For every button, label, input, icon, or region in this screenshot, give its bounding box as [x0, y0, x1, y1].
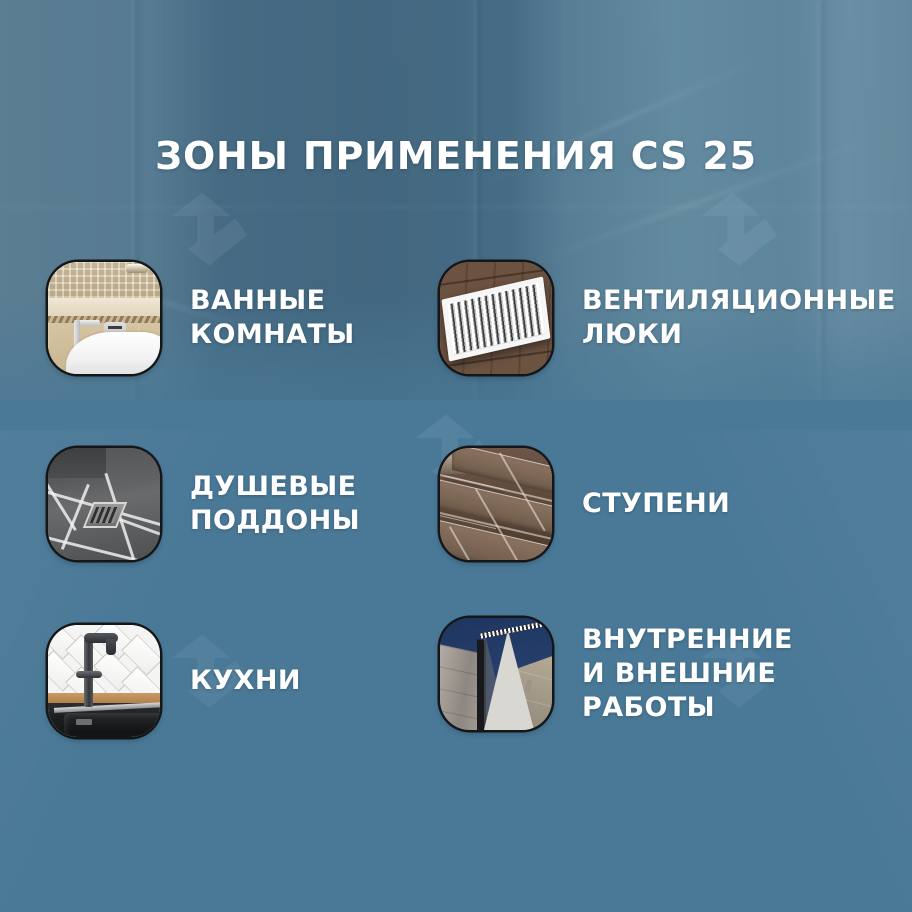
application-zone-label: ВНУТРЕННИЕ И ВНЕШНИЕ РАБОТЫ [582, 623, 793, 725]
bathroom-photo [48, 262, 160, 374]
application-zone-item: СТУПЕНИ [440, 448, 730, 560]
shower-tray-photo [48, 448, 160, 560]
interior-exterior-works-photo [440, 618, 552, 730]
application-zone-item: КУХНИ [48, 625, 301, 737]
kitchen-photo [48, 625, 160, 737]
application-zone-label: ДУШЕВЫЕ ПОДДОНЫ [190, 470, 360, 538]
application-zone-item: ВЕНТИЛЯЦИОННЫЕ ЛЮКИ [440, 262, 896, 374]
application-zone-label: ВАННЫЕ КОМНАТЫ [190, 284, 355, 352]
application-zone-item: ДУШЕВЫЕ ПОДДОНЫ [48, 448, 360, 560]
page-title: ЗОНЫ ПРИМЕНЕНИЯ CS 25 [0, 133, 912, 179]
application-zone-label: ВЕНТИЛЯЦИОННЫЕ ЛЮКИ [582, 284, 896, 352]
ventilation-hatch-photo [440, 262, 552, 374]
stairs-photo [440, 448, 552, 560]
application-zone-label: КУХНИ [190, 664, 301, 698]
application-zone-label: СТУПЕНИ [582, 487, 730, 521]
application-zone-item: ВАННЫЕ КОМНАТЫ [48, 262, 355, 374]
application-zone-item: ВНУТРЕННИЕ И ВНЕШНИЕ РАБОТЫ [440, 618, 793, 730]
background-fade [0, 0, 912, 470]
poster-canvas: ЗОНЫ ПРИМЕНЕНИЯ CS 25 ВАННЫЕ КОМНАТЫ [0, 0, 912, 912]
